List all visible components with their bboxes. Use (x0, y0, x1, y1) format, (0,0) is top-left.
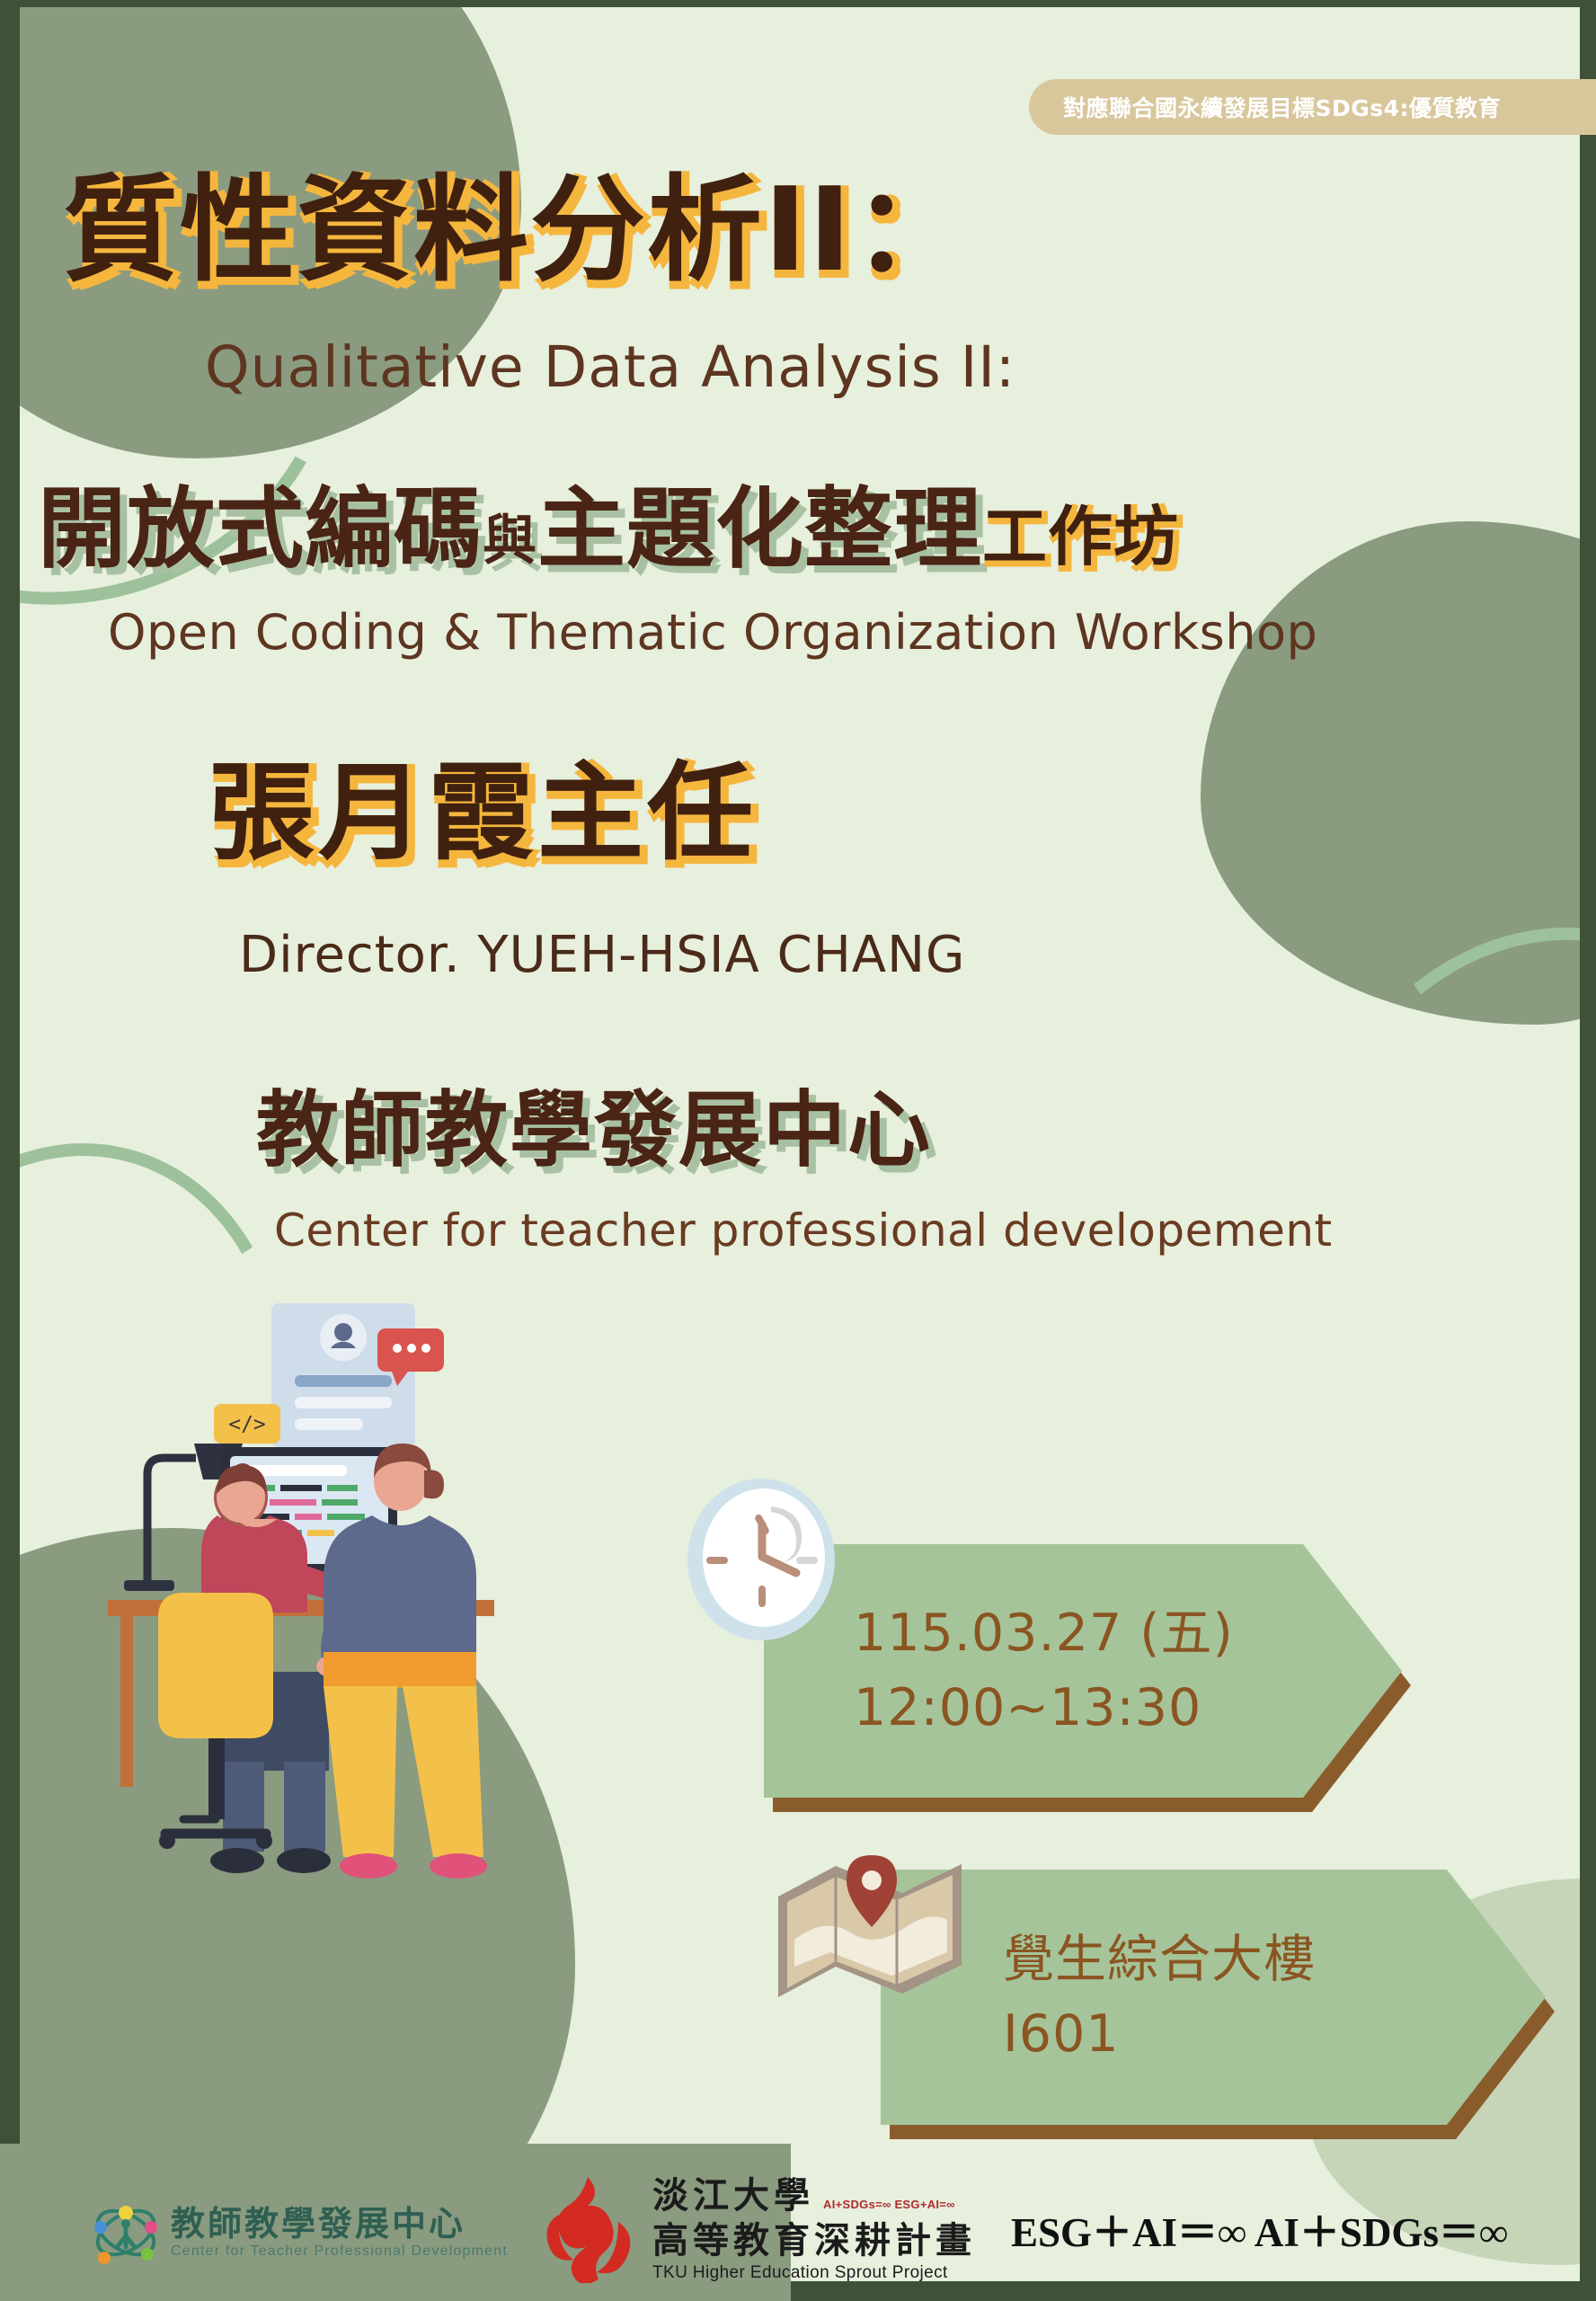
logo-tku-en: TKU Higher Education Sprout Project (652, 2263, 976, 2283)
speaker-name-zh: 張月霞主任 (208, 760, 757, 866)
clock-icon (685, 1474, 838, 1645)
subtitle-en-text: Open Coding & Thematic Organization Work… (108, 604, 1317, 661)
frame-border-right (1580, 0, 1596, 2301)
venue-line-2: Ⅰ601 (1003, 1997, 1546, 2072)
ctpd-logo-icon (90, 2195, 162, 2270)
datetime-banner-body: 115.03.27 (五) 12:00~13:30 (764, 1544, 1402, 1798)
people-working-at-computer-illustration: </> (108, 1294, 683, 1915)
logo-tku-sprout: 淡江大學 AI+SDGs=∞ ESG+AI=∞ 高等教育深耕計畫 TKU Hig… (539, 2173, 976, 2283)
main-title-en: Qualitative Data Analysis II: (205, 334, 1015, 400)
logo-ctpd-zh: 教師教學發展中心 (171, 2206, 508, 2243)
subtitle-zh: 開放式編碼與主題化整理工作坊 (38, 485, 1179, 573)
subtitle-zh-line: 開放式編碼與主題化整理工作坊 (38, 485, 1179, 573)
venue-line-1: 覺生綜合大樓 (1003, 1923, 1546, 1997)
datetime-line-1: 115.03.27 (五) (854, 1596, 1402, 1671)
logo-ctpd-en: Center for Teacher Professional Developm… (171, 2243, 508, 2260)
main-title-zh: 質性資料分析II： (63, 173, 970, 290)
subtitle-part-1: 開放式編碼 (38, 478, 483, 581)
subtitle-join: 與 (483, 510, 537, 573)
tku-sprout-logo-icon (539, 2173, 640, 2283)
organizer-zh-text: 教師教學發展中心 (256, 1089, 932, 1172)
datetime-line-2: 12:00~13:30 (854, 1671, 1402, 1746)
logo-tku-tagline: AI+SDGs=∞ ESG+AI=∞ (823, 2198, 955, 2218)
organizer-zh: 教師教學發展中心 (256, 1089, 932, 1172)
subtitle-en: Open Coding & Thematic Organization Work… (108, 604, 1317, 661)
main-title-en-text: Qualitative Data Analysis II: (205, 334, 1015, 400)
organizer-en: Center for teacher professional develope… (274, 1204, 1333, 1257)
datetime-banner: 115.03.27 (五) 12:00~13:30 (764, 1544, 1411, 1814)
subtitle-part-2: 主題化整理 (537, 478, 982, 581)
organizer-en-text: Center for teacher professional develope… (274, 1204, 1333, 1257)
speaker-name-en-text: Director. YUEH-HSIA CHANG (239, 926, 965, 984)
main-title-zh-text: 質性資料分析II： (63, 173, 970, 290)
map-pin-icon (771, 1853, 969, 2015)
frame-border-left (0, 0, 20, 2301)
logo-ctpd: 教師教學發展中心 Center for Teacher Professional… (90, 2195, 508, 2270)
logo-tku-zh2: 高等教育深耕計畫 (652, 2218, 976, 2263)
subtitle-part-3: 工作坊 (982, 499, 1179, 574)
sdg-banner-text: 對應聯合國永續發展目標SDGs4:優質教育 (1063, 91, 1501, 123)
svg-text:</>: </> (228, 1413, 266, 1436)
venue-banner: 覺生綜合大樓 Ⅰ601 (881, 1870, 1564, 2139)
sdg-banner: 對應聯合國永續發展目標SDGs4:優質教育 (1029, 79, 1596, 135)
venue-banner-body: 覺生綜合大樓 Ⅰ601 (881, 1870, 1546, 2125)
frame-border-top (0, 0, 1596, 7)
speaker-name-en: Director. YUEH-HSIA CHANG (239, 926, 965, 984)
speaker-name-zh-text: 張月霞主任 (208, 760, 757, 866)
poster-canvas: 對應聯合國永續發展目標SDGs4:優質教育 質性資料分析II： Qualitat… (0, 0, 1596, 2301)
footer-slogan: ESG＋AI＝∞ AI＋SDGs＝∞ (1011, 2199, 1508, 2258)
logo-tku-zh1: 淡江大學 (652, 2173, 814, 2218)
